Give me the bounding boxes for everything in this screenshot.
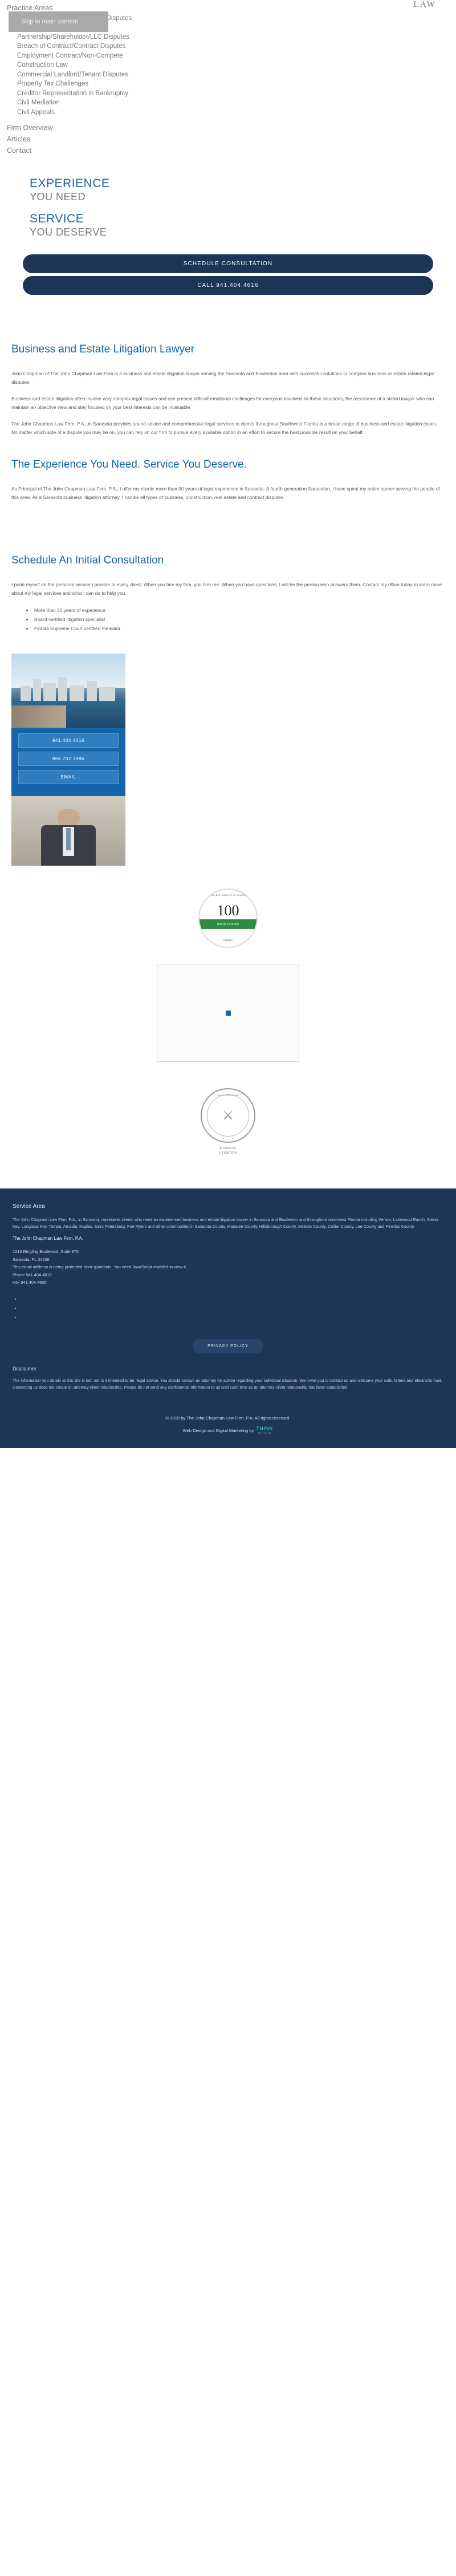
list-item: Board-certified litigation specialist [33,615,445,624]
rating-badge-row: The Best Lawyers in America 100 Board Ce… [0,866,456,954]
list-item: Florida Supreme Court certified mediator [33,624,445,633]
seal-arc-text: THE FLORIDA BAR [202,1094,254,1097]
rating-badge-score: 100 [199,902,256,919]
footer-firm-name: The John Chapman Law Firm, P.A. [13,1236,443,1241]
photo-building [99,687,115,701]
hero-gap [30,203,456,212]
disclaimer-heading: Disclaimer [13,1366,443,1372]
privacy-policy-button[interactable]: PRIVACY POLICY [193,1339,263,1353]
office-location-map[interactable] [157,964,299,1062]
nav-subitem-landlord-tenant[interactable]: Commercial Landlord/Tenant Disputes [17,70,456,80]
social-link-item[interactable] [21,1297,443,1306]
nav-spacer [7,117,456,122]
attorney-portrait-photo [11,796,125,866]
nav-subitem-breach-of-contract[interactable]: Breach of Contract/Contract Disputes [17,42,456,52]
intro-paragraph-3: The John Chapman Law Firm, P.A., in Sara… [11,420,445,437]
experience-section-title: The Experience You Need. Service You Des… [11,457,445,472]
hero-text-block: EXPERIENCE YOU NEED SERVICE YOU DESERVE [0,177,456,238]
rating-badge: The Best Lawyers in America 100 Board Ce… [198,889,258,948]
main-content: Business and Estate Litigation Lawyer Jo… [0,315,456,639]
photo-building [43,683,56,701]
portrait-head [57,809,80,827]
thinkdonson-logo-top: THINK [256,1426,273,1431]
credentials-section: The Best Lawyers in America 100 Board Ce… [0,866,456,1155]
section-gap-large-2 [11,532,445,553]
social-link-item[interactable] [21,1315,443,1324]
top-navigation-bar: LAW Practice Areas Probate, Will Contest… [0,0,456,155]
site-logo: LAW [413,0,436,10]
hero-headline-experience: EXPERIENCE [30,177,456,190]
nav-subitem-civil-mediation[interactable]: Civil Mediation [17,99,456,108]
photo-building [70,685,84,701]
map-marker-icon [226,1011,231,1016]
schedule-consultation-button[interactable]: SCHEDULE CONSULTATION [23,254,433,273]
thinkdonson-logo-bottom: DONSON [258,1431,271,1435]
seal-caption-litigation: LITIGATION [0,1151,456,1155]
footer-social-list [21,1297,443,1324]
social-link-item[interactable] [21,1306,443,1315]
credit-prefix-text: Web Design and Digital Marketing by [183,1428,254,1433]
nav-subitem-partnership[interactable]: Partnership/Shareholder/LLC Disputes [17,33,456,42]
panel-phone-primary-button[interactable]: 941.404.4616 [18,733,119,748]
nav-subitem-creditor-representation[interactable]: Creditor Representation in Bankruptcy [17,89,456,99]
photo-skyline [11,676,125,701]
seal-caption: BUSINESS LITIGATION [0,1146,456,1155]
hero-section: EXPERIENCE YOU NEED SERVICE YOU DESERVE … [0,155,456,315]
service-area-text: The John Chapman Law Firm, P.A., in Sara… [13,1216,443,1230]
photo-building [33,679,41,701]
photo-dock [11,705,66,728]
section-gap-large [11,510,445,532]
sidebar-media-section: 941.404.4616 866.702.3986 EMAIL [0,639,456,866]
disclaimer-text: The information you obtain at this site … [13,1377,443,1405]
credit-line: Web Design and Digital Marketing by THIN… [0,1426,456,1435]
photo-building [21,686,31,701]
footer-fax: Fax 941.404.4605 [13,1279,443,1287]
hero-subline-you-need: YOU NEED [30,190,456,203]
thinkdonson-logo[interactable]: THINK DONSON [256,1426,273,1435]
section-gap [11,445,445,457]
nav-subitem-civil-appeals[interactable]: Civil Appeals [17,108,456,117]
contact-cta-panel: 941.404.4616 866.702.3986 EMAIL [11,728,125,796]
site-footer: Service Area The John Chapman Law Firm, … [0,1188,456,1405]
nav-subitem-employment-contract[interactable]: Employment Contract/Non-Compete [17,51,456,61]
page-title: Business and Estate Litigation Lawyer [11,342,445,357]
rating-badge-top-text: The Best Lawyers in America [199,894,256,896]
copyright-text: © 2019 by The John Chapman Law Firm, P.A… [0,1415,456,1421]
panel-phone-alt-button[interactable]: 866.702.3986 [18,752,119,766]
nav-item-firm-overview[interactable]: Firm Overview [7,122,456,133]
photo-building [58,677,67,701]
footer-address-line-1: 1515 Ringling Boulevard, Suite 870 [13,1248,443,1256]
portrait-tie [66,828,71,850]
hero-headline-service: SERVICE [30,212,456,226]
nav-item-articles[interactable]: Articles [7,133,456,145]
copyright-bar: © 2019 by The John Chapman Law Firm, P.A… [0,1405,456,1448]
nav-subitem-property-tax[interactable]: Property Tax Challenges [17,80,456,90]
seal-caption-business: BUSINESS [0,1146,456,1151]
nav-item-contact[interactable]: Contact [7,145,456,156]
intro-paragraph-2: Business and estate litigation often inv… [11,395,445,412]
rating-badge-ribbon: Board Certified [199,919,256,929]
skip-to-main-content-link[interactable]: Skip to main content [9,11,108,32]
seal-inner-ring: ⚔ [207,1094,249,1137]
hero-cta-group: SCHEDULE CONSULTATION CALL 941.404.4616 [0,238,456,315]
footer-phone[interactable]: Phone 941.404.4616 [13,1271,443,1279]
photo-building [87,681,97,701]
consultation-highlights-list: More than 30 years of experience Board-c… [33,606,445,633]
list-item: More than 30 years of experience [33,606,445,615]
florida-bar-certification-seal: THE FLORIDA BAR ⚔ [201,1088,255,1143]
service-area-heading: Service Area [13,1203,443,1210]
hero-subline-you-deserve: YOU DESERVE [30,226,456,238]
seal-emblem-icon: ⚔ [222,1109,234,1122]
footer-email-protected-note[interactable]: This email address is being protected fr… [13,1263,443,1271]
experience-paragraph: As Principal of The John Chapman Law Fir… [11,485,445,502]
privacy-policy-wrap: PRIVACY POLICY [13,1324,443,1366]
intro-paragraph-1: John Chapman of The John Chapman Law Fir… [11,370,445,387]
nav-subitem-construction-law[interactable]: Construction Law [17,61,456,71]
consultation-paragraph: I pride myself on the personal service I… [11,581,445,598]
consultation-section-title: Schedule An Initial Consultation [11,553,445,568]
rating-badge-bottom-text: Litigation [199,939,256,942]
panel-email-button[interactable]: EMAIL [18,770,119,784]
footer-address-line-2: Sarasota, FL 34236 [13,1256,443,1264]
sarasota-skyline-photo [11,654,125,728]
call-phone-button[interactable]: CALL 941.404.4616 [23,276,433,295]
